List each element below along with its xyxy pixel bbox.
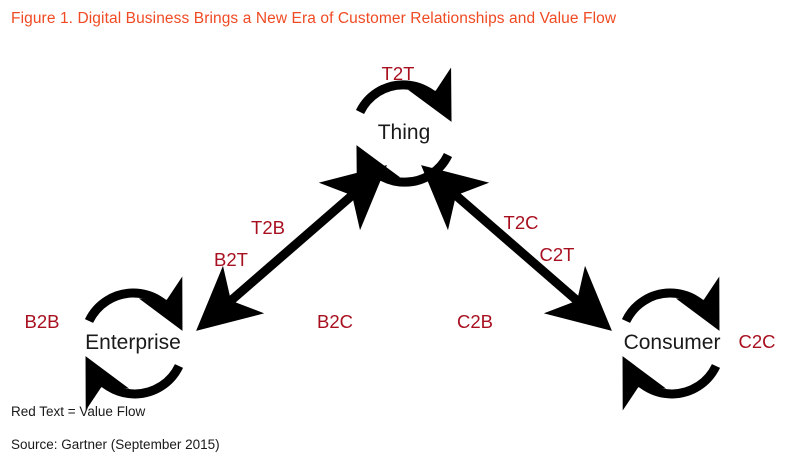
flow-label-c2b: C2B [457,311,493,333]
legend-caption: Red Text = Value Flow [11,404,145,419]
flow-label-t2t: T2T [382,63,415,85]
consumer-loop-arc-top [626,293,714,321]
flow-label-b2c: B2C [317,311,353,333]
flow-label-c2c: C2C [738,331,775,353]
flow-label-t2b: T2B [251,217,285,239]
enterprise-loop-arc-top [89,293,177,321]
node-label-enterprise: Enterprise [85,331,181,355]
connector-thing-consumer [429,172,604,324]
flow-label-t2c: T2C [504,212,539,234]
consumer-loop-arc-bottom [628,366,716,394]
flow-label-c2t: C2T [540,244,575,266]
flow-label-b2b: B2B [25,311,60,333]
node-label-thing: Thing [378,121,431,145]
thing-loop-arc-top [360,85,446,112]
enterprise-loop-arc-bottom [91,366,179,394]
figure-container: Figure 1. Digital Business Brings a New … [0,0,800,466]
node-label-consumer: Consumer [624,331,721,355]
connector-thing-enterprise [204,172,379,324]
flow-label-b2t: B2T [214,249,248,271]
source-caption: Source: Gartner (September 2015) [11,437,220,452]
